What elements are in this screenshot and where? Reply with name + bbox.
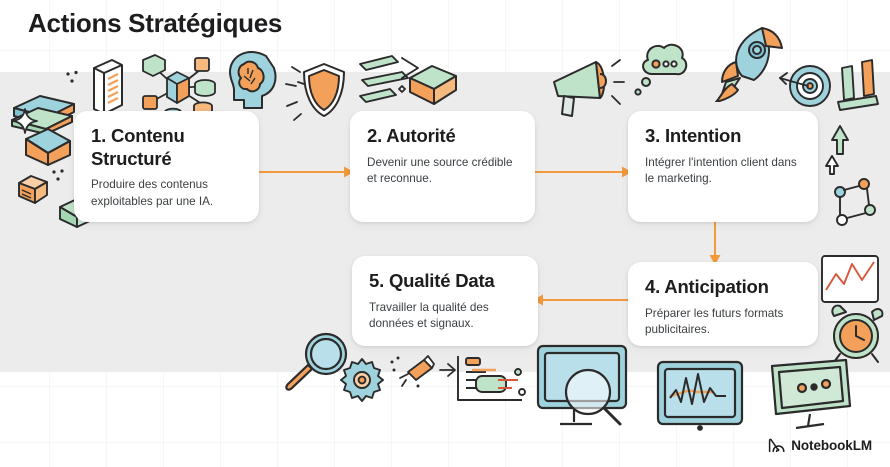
arrow-step1-to-step2 <box>258 165 354 179</box>
step-card-5-title: 5. Qualité Data <box>369 270 521 293</box>
arrow-step2-to-step3 <box>534 165 632 179</box>
step-card-3-description: Intégrer l'intention client dans le mark… <box>645 155 801 188</box>
step-card-5[interactable]: 5. Qualité Data Travailler la qualité de… <box>352 256 538 346</box>
step-card-3-title: 3. Intention <box>645 125 801 148</box>
step-card-4[interactable]: 4. Anticipation Préparer les futurs form… <box>628 262 818 346</box>
step-card-1-title: 1. Contenu Structuré <box>91 125 242 170</box>
brand-footer: NotebookLM <box>768 438 872 453</box>
brand-name: NotebookLM <box>791 438 872 453</box>
step-card-1-description: Produire des contenus exploitables par u… <box>91 177 242 210</box>
infographic-canvas: Actions Stratégiques 1. Contenu Structur… <box>0 0 890 467</box>
step-card-2-description: Devenir une source crédible et reconnue. <box>367 155 518 188</box>
step-card-3[interactable]: 3. Intention Intégrer l'intention client… <box>628 111 818 222</box>
page-title: Actions Stratégiques <box>28 8 282 39</box>
arrow-step3-to-step4 <box>708 221 722 265</box>
step-card-2[interactable]: 2. Autorité Devenir une source crédible … <box>350 111 535 222</box>
step-card-2-title: 2. Autorité <box>367 125 518 148</box>
arrow-step4-to-step5 <box>533 293 633 307</box>
step-card-4-description: Préparer les futurs formats publicitaire… <box>645 306 801 339</box>
step-card-4-title: 4. Anticipation <box>645 276 801 299</box>
step-card-5-description: Travailler la qualité des données et sig… <box>369 300 521 333</box>
step-card-1[interactable]: 1. Contenu Structuré Produire des conten… <box>74 111 259 222</box>
notebooklm-logo-icon <box>768 438 785 453</box>
